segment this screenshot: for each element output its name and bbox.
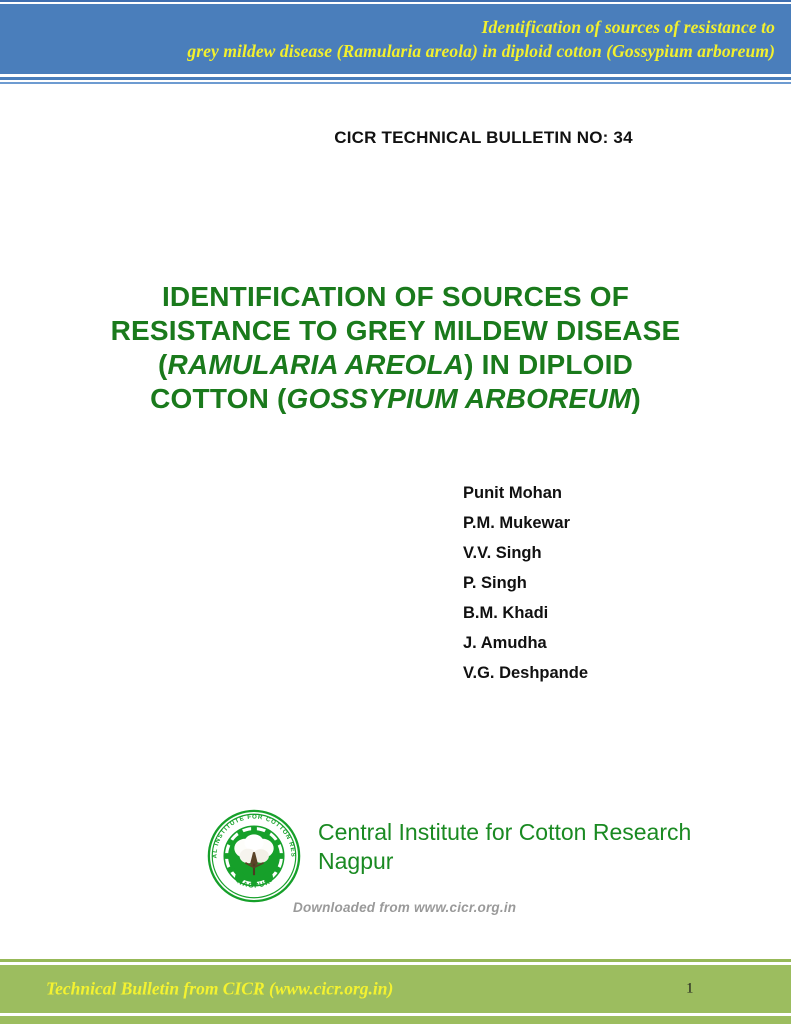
page-number: 1 [686,981,694,998]
organization-name-line-1: Central Institute for Cotton Research [318,818,691,847]
author-name: Punit Mohan [463,478,588,508]
title-line-1: IDENTIFICATION OF SOURCES OF [162,281,629,312]
title-line-3-species: RAMULARIA AREOLA [168,349,465,380]
author-name: P. Singh [463,568,588,598]
author-name: P.M. Mukewar [463,508,588,538]
author-list: Punit Mohan P.M. Mukewar V.V. Singh P. S… [463,478,588,688]
title-line-3-prefix: ( [158,349,168,380]
title-line-4-species: GOSSYPIUM ARBOREUM [287,383,632,414]
organization-block: CENTRAL INSTITUTE FOR COTTON RESEARCH NA… [206,808,691,904]
title-line-3-suffix: ) IN DIPLOID [464,349,633,380]
footer-band: Technical Bulletin from CICR (www.cicr.o… [0,965,791,1013]
footer-bottom-rule [0,1016,791,1024]
author-name: V.G. Deshpande [463,658,588,688]
author-name: V.V. Singh [463,538,588,568]
organization-name-line-2: Nagpur [318,847,691,876]
cicr-seal-logo-icon: CENTRAL INSTITUTE FOR COTTON RESEARCH NA… [206,808,302,904]
title-line-2: RESISTANCE TO GREY MILDEW DISEASE [111,315,681,346]
download-watermark: Downloaded from www.cicr.org.in [293,900,516,915]
header-band: Identification of sources of resistance … [0,4,791,74]
header-bottom-rule [0,82,791,84]
header-title-line-2: grey mildew disease (Ramularia areola) i… [187,39,775,63]
title-line-4-suffix: ) [631,383,641,414]
page-title: IDENTIFICATION OF SOURCES OF RESISTANCE … [0,280,791,416]
bulletin-number: CICR TECHNICAL BULLETIN NO: 34 [0,128,791,148]
footer-text: Technical Bulletin from CICR (www.cicr.o… [46,979,393,1000]
header-title-line-1: Identification of sources of resistance … [482,15,775,39]
author-name: B.M. Khadi [463,598,588,628]
page-footer: Technical Bulletin from CICR (www.cicr.o… [0,959,791,1024]
organization-name: Central Institute for Cotton Research Na… [318,818,691,876]
author-name: J. Amudha [463,628,588,658]
title-line-4-prefix: COTTON ( [150,383,286,414]
page-header: Identification of sources of resistance … [0,0,791,84]
